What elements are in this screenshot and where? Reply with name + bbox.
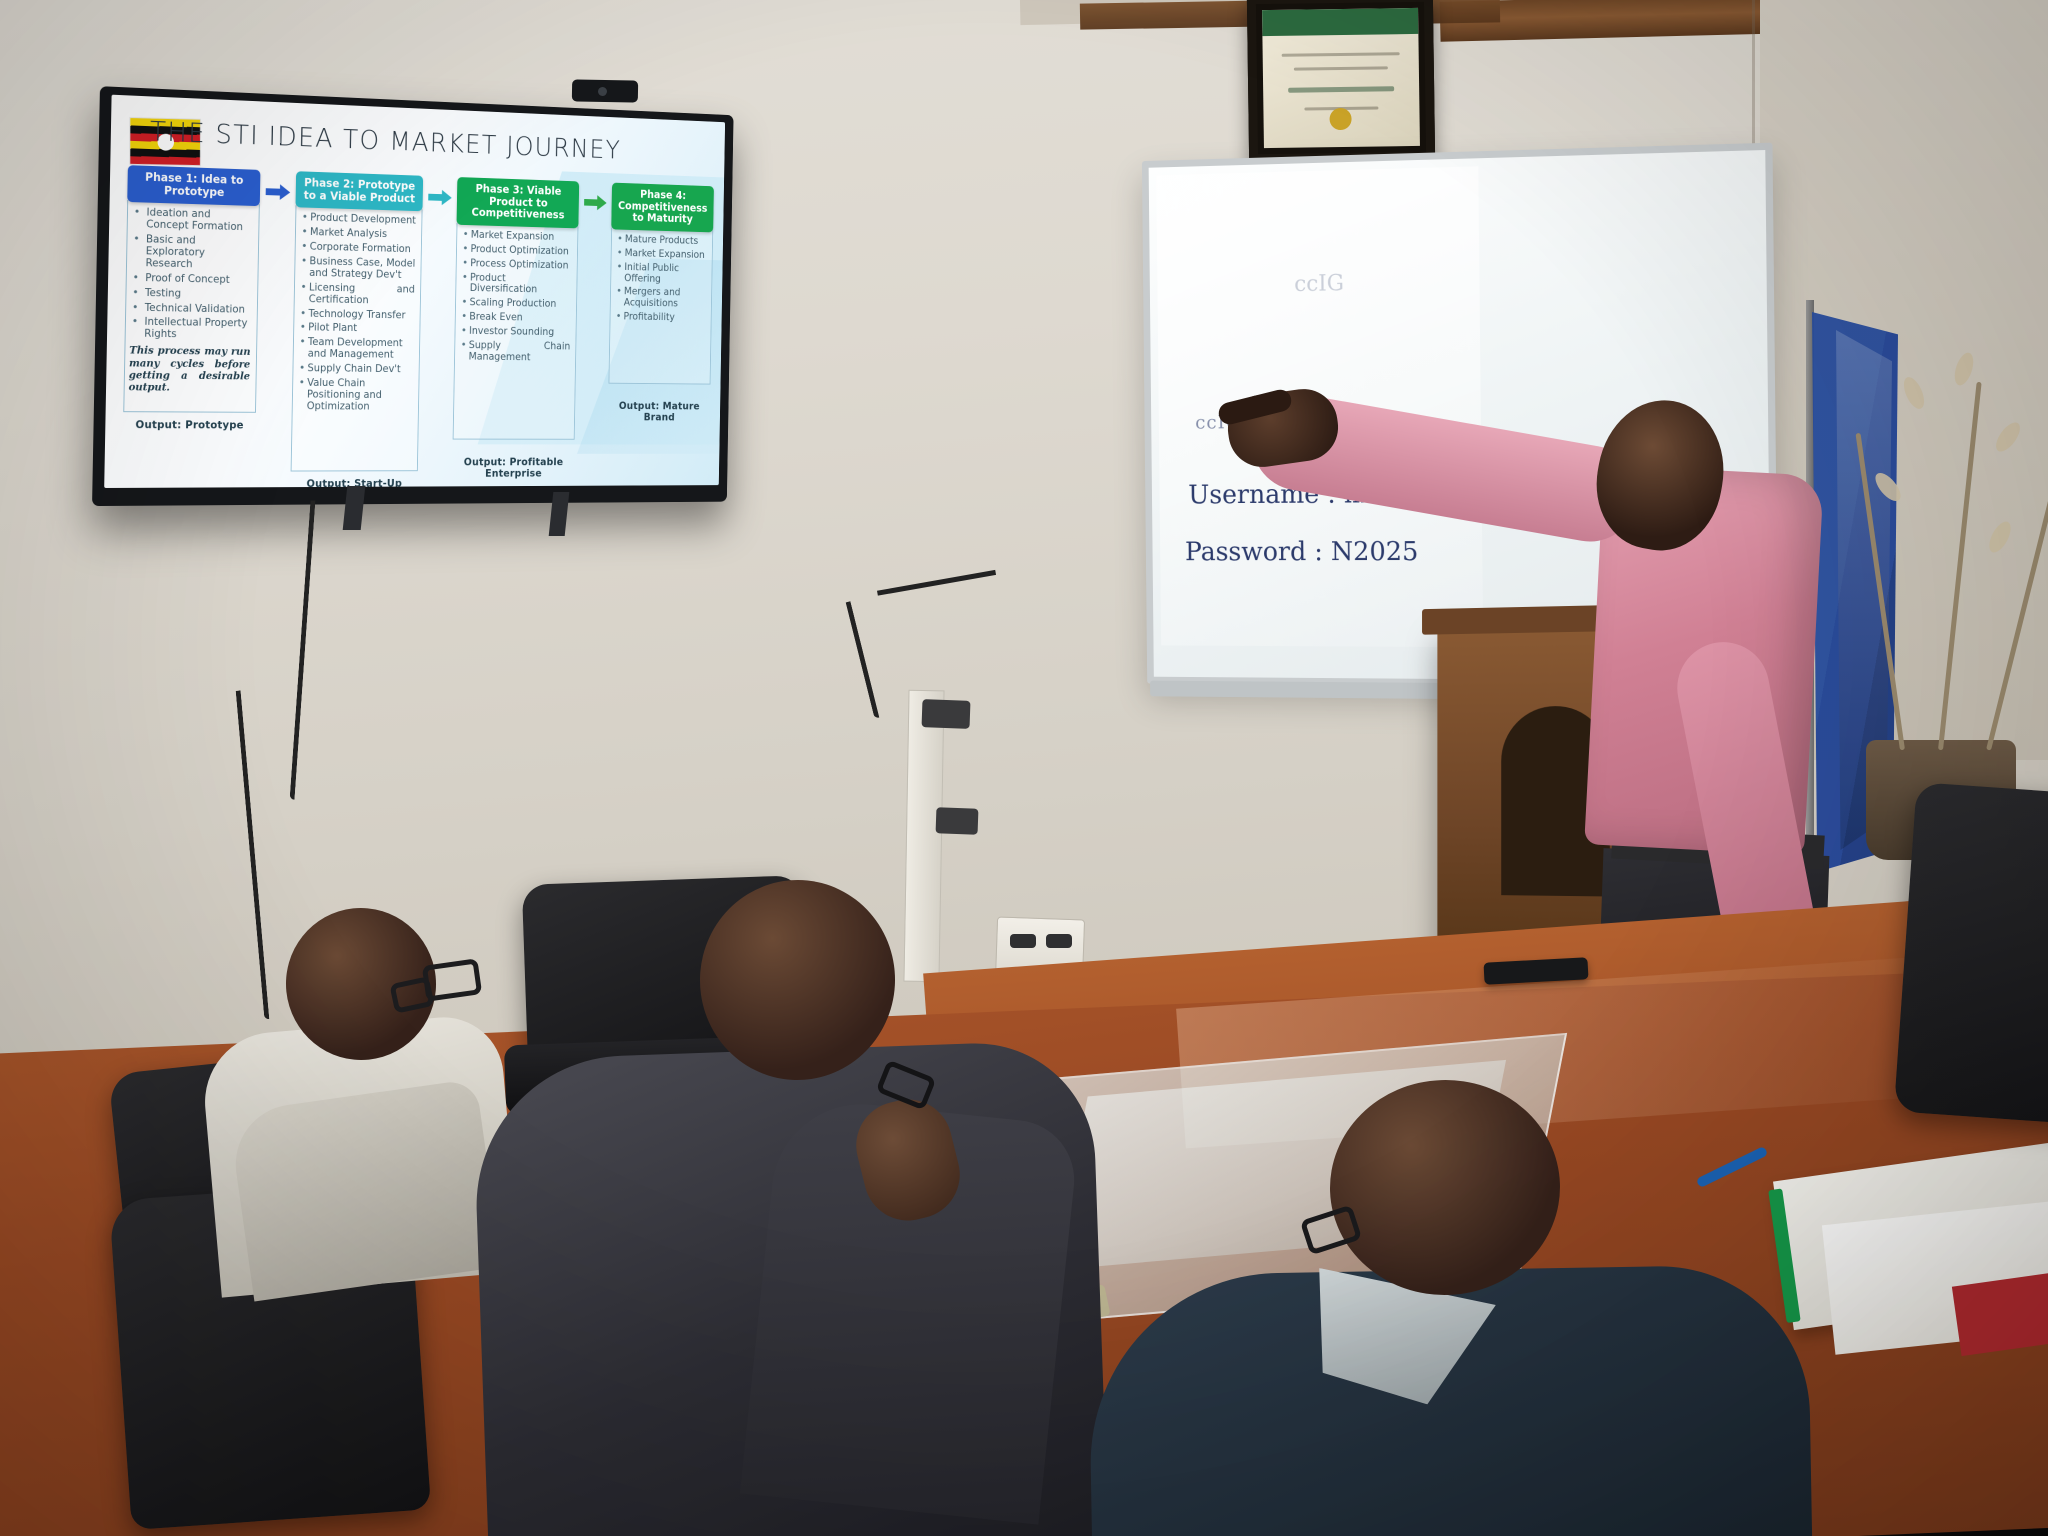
whiteboard-line-2: Password : N2025 [1185, 537, 1419, 567]
phase-2-body: Product Development Market Analysis Corp… [291, 205, 423, 471]
socket-slot [1046, 934, 1072, 948]
list-item: Product Diversification [460, 272, 572, 297]
certificate-paper [1262, 8, 1420, 148]
list-item: Business Case, Model and Strategy Dev't [299, 256, 415, 282]
whiteboard-faint-writing: ccIG [1294, 271, 1344, 297]
list-item: Proof of Concept [131, 272, 252, 286]
phase-1-header: Phase 1: Idea to Prototype [127, 165, 260, 206]
phase-4-header: Phase 4: Competitiveness to Maturity [611, 183, 714, 233]
framed-certificate [1247, 0, 1435, 163]
list-item: Market Analysis [300, 227, 416, 242]
list-item: Testing [130, 287, 251, 301]
phase-columns: Phase 1: Idea to Prototype Ideation and … [122, 165, 714, 488]
phase-1-body: Ideation and Concept Formation Basic and… [123, 200, 260, 413]
list-item: Pilot Plant [298, 323, 414, 336]
list-item: Market Expansion [461, 229, 573, 243]
phase-1-output: Output: Prototype [123, 419, 256, 431]
certificate-text-line [1281, 52, 1400, 57]
slide-title: THE STI IDEA TO MARKET JOURNEY [150, 116, 621, 165]
chair-right[interactable] [1894, 782, 2048, 1128]
list-item: Mergers and Acquisitions [614, 287, 706, 311]
phase-column-2: Phase 2: Prototype to a Viable Product P… [290, 171, 423, 488]
list-item: Process Optimization [460, 258, 572, 272]
certificate-text-line [1294, 66, 1388, 70]
list-item: Value Chain Positioning and Optimization [296, 378, 413, 413]
phase-1-note: This process may run many cycles before … [128, 345, 250, 395]
arrow-3-icon [584, 191, 607, 214]
wall-conduit [903, 690, 944, 983]
list-item: Technology Transfer [298, 308, 414, 322]
phase-3-output: Output: Profitable Enterprise [452, 456, 574, 479]
certificate-text-line [1288, 86, 1394, 92]
list-item: Initial Public Offering [615, 262, 707, 286]
list-item: Basic and Exploratory Research [131, 234, 253, 272]
phase-1-bullet-list: Ideation and Concept Formation Basic and… [129, 207, 253, 342]
list-item: Product Development [300, 212, 416, 227]
phase-column-1: Phase 1: Idea to Prototype Ideation and … [123, 165, 261, 431]
phase-2-header: Phase 2: Prototype to a Viable Product [296, 171, 424, 211]
list-item: Supply Chain Management [459, 340, 571, 364]
list-item: Product Optimization [461, 244, 573, 258]
list-item: Scaling Production [460, 298, 572, 311]
arrow-1-icon [266, 180, 291, 204]
list-item: Investor Sounding [459, 326, 571, 339]
phase-column-3: Phase 3: Viable Product to Competitivene… [452, 177, 579, 479]
phase-4-bullet-list: Mature Products Market Expansion Initial… [614, 234, 707, 325]
phase-3-body: Market Expansion Product Optimization Pr… [453, 223, 579, 440]
list-item: Technical Validation [130, 302, 251, 316]
list-item: Intellectual Property Rights [129, 317, 251, 342]
video-camera [572, 79, 638, 102]
presentation-display: THE STI IDEA TO MARKET JOURNEY Phase 1: … [92, 86, 734, 506]
certificate-top-band [1262, 8, 1418, 36]
list-item: Team Development and Management [297, 337, 414, 362]
phase-column-4: Phase 4: Competitiveness to Maturity Mat… [608, 183, 714, 424]
wall-outlet[interactable] [936, 807, 979, 834]
presentation-slide: THE STI IDEA TO MARKET JOURNEY Phase 1: … [104, 95, 725, 488]
list-item: Supply Chain Dev't [297, 363, 413, 376]
attendee-left-arm [228, 1079, 502, 1302]
list-item: Corporate Formation [299, 241, 415, 256]
conference-room-scene: THE STI IDEA TO MARKET JOURNEY Phase 1: … [0, 0, 2048, 1536]
phase-2-bullet-list: Product Development Market Analysis Corp… [296, 212, 416, 413]
list-item: Market Expansion [615, 248, 707, 261]
list-item: Ideation and Concept Formation [132, 207, 254, 234]
phase-3-bullet-list: Market Expansion Product Optimization Pr… [459, 229, 573, 364]
arrow-2-icon [428, 186, 452, 210]
phase-4-output: Output: Mature Brand [608, 400, 710, 423]
list-item: Mature Products [615, 234, 707, 248]
certificate-seal [1329, 108, 1351, 130]
list-item: Licensing and Certification [298, 282, 415, 307]
phase-4-body: Mature Products Market Expansion Initial… [609, 227, 714, 384]
phase-3-header: Phase 3: Viable Product to Competitivene… [457, 177, 580, 228]
socket-slot [1010, 934, 1036, 948]
list-item: Profitability [614, 312, 706, 325]
list-item: Break Even [459, 312, 571, 325]
tv-screen: THE STI IDEA TO MARKET JOURNEY Phase 1: … [104, 95, 725, 488]
wall-outlet[interactable] [922, 699, 971, 729]
